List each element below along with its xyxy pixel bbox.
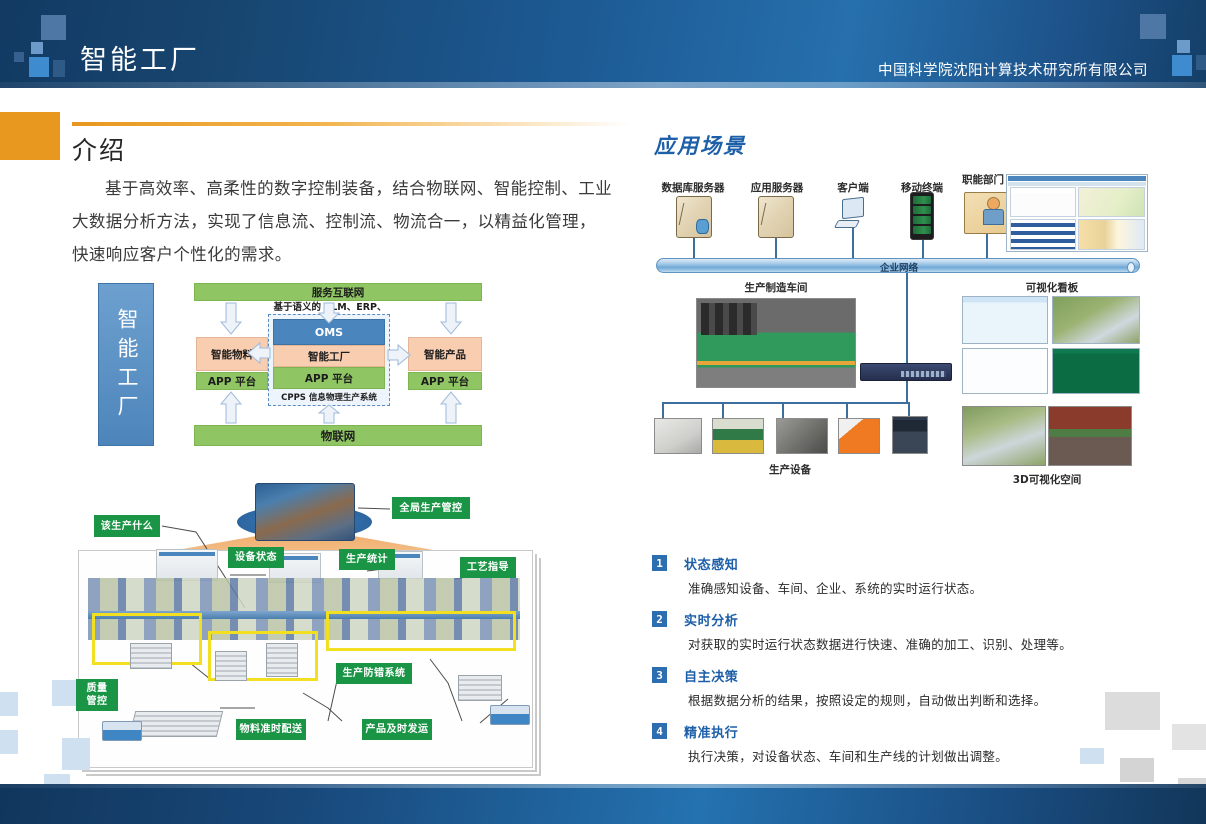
intro-divider	[72, 122, 632, 126]
intro-accent-block	[0, 112, 60, 160]
feature-list: 1 状态感知 准确感知设备、车间、企业、系统的实时运行状态。 2 实时分析 对获…	[652, 554, 1152, 778]
header-decor-square-6	[1140, 14, 1166, 39]
kanban-cell-list	[962, 296, 1048, 344]
kanban-cell-board	[1052, 348, 1140, 394]
feature-number-4: 4	[652, 723, 667, 739]
page-header: 智能工厂 中国科学院沈阳计算技术研究所有限公司	[0, 0, 1206, 88]
enterprise-network-label: 企业网络	[657, 259, 1141, 274]
enterprise-network-bus: 企业网络	[656, 258, 1140, 273]
connector-client	[852, 228, 854, 260]
node-label-client: 客户端	[820, 180, 886, 195]
feature-detail-1: 准确感知设备、车间、企业、系统的实时运行状态。	[688, 578, 1152, 597]
desktop-pc-icon	[836, 198, 870, 232]
feature-number-1: 1	[652, 555, 667, 571]
department-folder-icon	[964, 192, 1008, 234]
decor-block-right-2	[1080, 748, 1104, 764]
feature-number-2: 2	[652, 611, 667, 627]
connector-mobile	[922, 240, 924, 260]
feature-heading-3: 自主决策	[684, 666, 1152, 685]
app-server-icon	[758, 196, 794, 238]
node-label-app-server: 应用服务器	[738, 180, 816, 195]
label-what-to-produce: 该生产什么	[94, 515, 160, 537]
scene-heading: 应用场景	[654, 130, 746, 160]
tablet-icon	[910, 192, 934, 240]
equipment-cnc-machine	[654, 418, 702, 454]
label-production-workshop: 生产制造车间	[696, 280, 856, 295]
pallet-stack-4	[458, 675, 502, 701]
header-decor-square-2	[31, 42, 43, 54]
database-server-icon	[676, 196, 712, 238]
decor-block-left-4	[62, 738, 90, 770]
arch-arrows	[98, 278, 498, 453]
switch-to-equipment-bus	[906, 381, 908, 403]
label-jit-material-delivery: 物料准时配送	[236, 719, 306, 740]
dash-cell-hbars	[1010, 219, 1076, 250]
feature-detail-3: 根据数据分析的结果，按照设定的规则，自动做出判断和选择。	[688, 690, 1152, 709]
agv-path-3	[326, 611, 516, 651]
label-equipment-status: 设备状态	[228, 547, 284, 568]
feature-heading-4: 精准执行	[684, 722, 1152, 741]
viz-3d-machine	[1048, 406, 1132, 466]
decor-block-right-4	[1120, 758, 1154, 782]
equipment-bus-line	[662, 402, 910, 404]
truck-outbound	[490, 705, 530, 725]
feature-detail-2: 对获取的实时运行状态数据进行快速、准确的加工、识别、处理等。	[688, 634, 1152, 653]
header-decor-square-1	[41, 15, 66, 40]
label-production-statistics: 生产统计	[339, 549, 395, 570]
dash-cell-bars	[1010, 187, 1076, 217]
decor-block-left-1	[0, 692, 18, 716]
feature-heading-2: 实时分析	[684, 610, 1152, 629]
label-production-equipment: 生产设备	[670, 462, 910, 477]
dashboard-panel-1	[156, 549, 218, 581]
decor-block-left-3	[52, 680, 76, 706]
header-decor-square-7	[1177, 40, 1190, 53]
equipment-furnace	[776, 418, 828, 454]
equipment-robot-arm	[838, 418, 880, 454]
pallet-stack-1	[130, 643, 172, 669]
feature-item-4: 4 精准执行 执行决策，对设备状态、车间和生产线的计划做出调整。	[652, 722, 1152, 765]
feature-heading-1: 状态感知	[684, 554, 1152, 573]
header-decor-square-8	[1172, 55, 1192, 76]
factory-illustration: 全局生产管控 该生产什么 设备状态 生产统计 工艺指导 质量 管控 生产防错系统…	[70, 483, 540, 773]
viz-3d-plant	[962, 406, 1046, 466]
dash-cell-map	[1078, 187, 1145, 217]
header-decor-square-3	[14, 52, 24, 62]
decor-block-right-3	[1172, 724, 1206, 750]
warehouse-racks	[129, 711, 223, 737]
feature-number-3: 3	[652, 667, 667, 683]
decor-block-left-2	[0, 730, 18, 754]
connector-dept	[986, 234, 988, 260]
header-decor-square-4	[29, 57, 49, 77]
label-on-time-shipment: 产品及时发运	[362, 719, 432, 740]
network-architecture-diagram: 数据库服务器 应用服务器 客户端 移动终端 职能部门	[650, 170, 1150, 520]
label-visual-kanban: 可视化看板	[962, 280, 1142, 295]
intro-heading: 介绍	[72, 131, 126, 167]
connector-app-server	[775, 238, 777, 260]
label-global-production-control: 全局生产管控	[392, 497, 470, 519]
production-workshop-photo	[696, 298, 856, 388]
page-title: 智能工厂	[80, 38, 200, 77]
label-error-prevention-system: 生产防错系统	[336, 663, 412, 684]
header-decor-square-5	[53, 60, 65, 77]
visual-kanban-grid	[962, 296, 1142, 396]
database-cylinder-icon	[696, 219, 709, 234]
header-decor-square-9	[1196, 55, 1206, 70]
decor-block-right-1	[1105, 692, 1160, 730]
truck-inbound	[102, 721, 142, 741]
network-switch-icon	[860, 363, 952, 381]
kanban-cell-chart	[962, 348, 1048, 394]
company-name: 中国科学院沈阳计算技术研究所有限公司	[878, 59, 1148, 80]
equipment-cnc-controller	[892, 416, 928, 454]
label-process-guidance: 工艺指导	[460, 557, 516, 578]
pallet-stack-3	[266, 643, 298, 677]
connector-bus-to-switch	[906, 273, 908, 363]
feature-item-3: 3 自主决策 根据数据分析的结果，按照设定的规则，自动做出判断和选择。	[652, 666, 1152, 709]
equipment-press-line	[712, 418, 764, 454]
page-footer	[0, 784, 1206, 824]
node-label-database-server: 数据库服务器	[650, 180, 736, 195]
label-quality-control: 质量 管控	[76, 679, 118, 711]
label-3d-visual-space: 3D可视化空间	[962, 472, 1132, 487]
bi-dashboard-mock	[1006, 174, 1148, 252]
feature-item-2: 2 实时分析 对获取的实时运行状态数据进行快速、准确的加工、识别、处理等。	[652, 610, 1152, 653]
pallet-stack-2	[215, 651, 247, 681]
feature-item-1: 1 状态感知 准确感知设备、车间、企业、系统的实时运行状态。	[652, 554, 1152, 597]
architecture-diagram: 智能工厂 服务互联网 基于语义的 PLM、ERP、 OMS 智能工厂 APP 平…	[98, 278, 498, 453]
connector-db-server	[693, 238, 695, 260]
kanban-cell-3d-plant	[1052, 296, 1140, 344]
dash-cell-funnel	[1078, 219, 1145, 250]
intro-paragraph: 基于高效率、高柔性的数字控制装备，结合物联网、智能控制、工业大数据分析方法，实现…	[72, 172, 612, 271]
